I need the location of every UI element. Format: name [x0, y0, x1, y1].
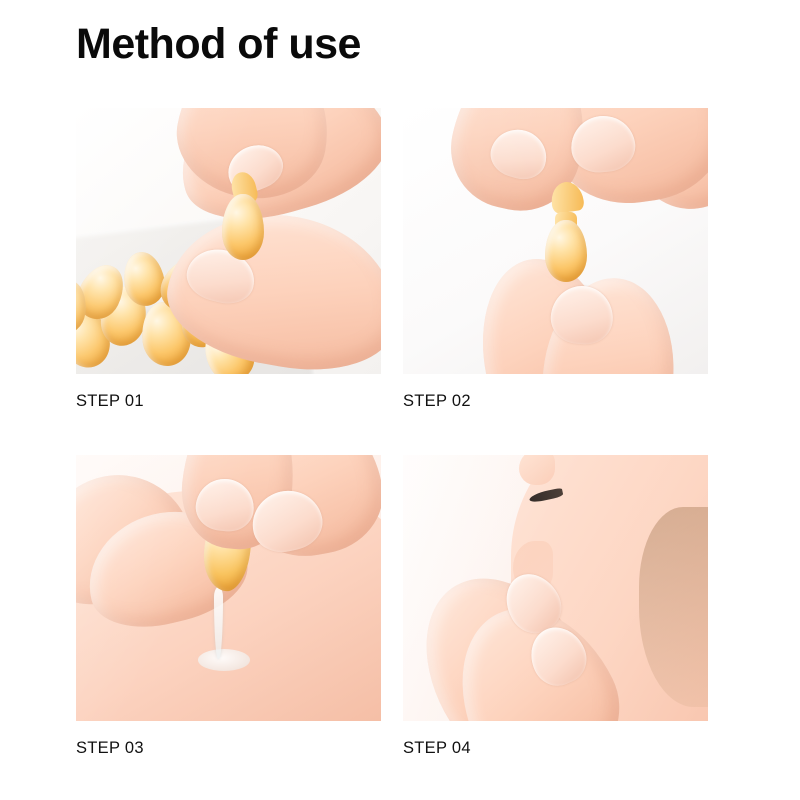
step-card-01[interactable]: STEP 01	[76, 108, 381, 411]
serum-pool	[198, 649, 250, 671]
nose	[519, 455, 555, 485]
step-image-01	[76, 108, 381, 374]
capsule-body	[545, 220, 587, 282]
step-label-02: STEP 02	[403, 392, 708, 411]
step-image-03	[76, 455, 381, 721]
page-title: Method of use	[76, 22, 361, 67]
step-label-03: STEP 03	[76, 739, 381, 758]
step-label-04: STEP 04	[403, 739, 708, 758]
step-image-02	[403, 108, 708, 374]
step-card-04[interactable]: STEP 04	[403, 455, 708, 758]
step-label-01: STEP 01	[76, 392, 381, 411]
step-card-03[interactable]: STEP 03	[76, 455, 381, 758]
steps-grid: STEP 01 STEP 02	[76, 108, 708, 770]
step-card-02[interactable]: STEP 02	[403, 108, 708, 411]
capsule-held	[222, 194, 264, 260]
step-image-04	[403, 455, 708, 721]
